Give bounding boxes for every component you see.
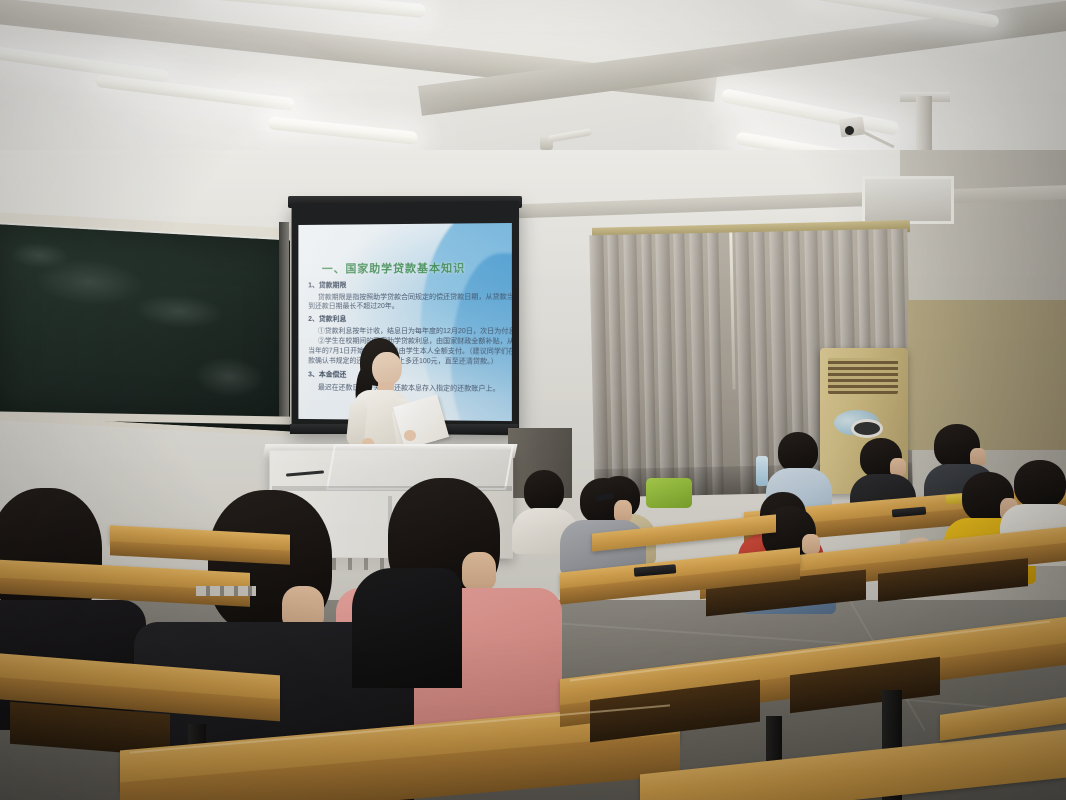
air-conditioner-grill: [828, 358, 898, 394]
slide-title: 一、国家助学贷款基本知识: [322, 260, 465, 277]
slide-text-line: 贷款期限是指按照助学贷款合同规定的偿还贷款日期，从贷款当年起: [318, 294, 512, 302]
blackboard-area: [0, 210, 290, 438]
presenter-face: [372, 352, 402, 386]
blackboard-edge: [279, 222, 289, 422]
curtain-gap: [729, 232, 735, 389]
green-chalkboard: [0, 224, 290, 437]
wall-socket-strip: [196, 586, 256, 596]
air-conditioner-display: [854, 422, 880, 435]
slide-text-line: ①贷款利息按年计收，结息日为每年度的12月20日，次日为付息日；: [318, 328, 512, 336]
presenter-hand: [404, 430, 416, 441]
window: [862, 176, 954, 224]
water-bottle[interactable]: [756, 456, 768, 486]
slide-section-heading: 1、贷款期限: [308, 282, 346, 289]
side-cabinet: [908, 300, 1066, 450]
green-chair[interactable]: [646, 478, 692, 508]
slide-text-line: 到还款日期最长不超过20年。: [308, 303, 399, 310]
classroom-photo: 一、国家助学贷款基本知识 1、贷款期限 贷款期限是指按照助学贷款合同规定的偿还贷…: [0, 0, 1066, 800]
slide-section-heading: 2、贷款利息: [308, 316, 346, 323]
